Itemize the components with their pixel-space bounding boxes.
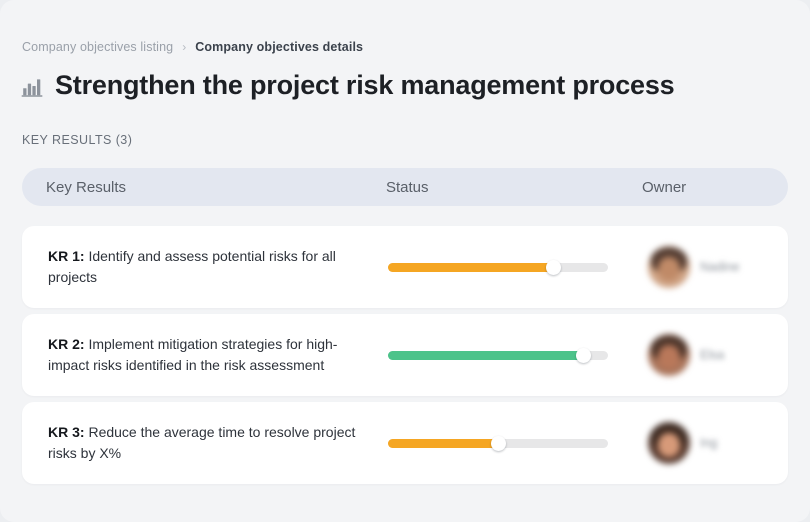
- page-title: Strengthen the project risk management p…: [55, 68, 674, 102]
- avatar[interactable]: [648, 422, 690, 464]
- page-title-row: Strengthen the project risk management p…: [20, 66, 674, 104]
- key-result-text: KR 2: Implement mitigation strategies fo…: [22, 334, 388, 376]
- key-result-label: KR 1:: [48, 248, 85, 264]
- owner-name: Ing: [700, 436, 717, 450]
- status-cell: [388, 351, 644, 360]
- avatar-face: [658, 433, 680, 457]
- owner-cell[interactable]: Nadine: [644, 246, 788, 288]
- table-row[interactable]: KR 2: Implement mitigation strategies fo…: [22, 314, 788, 396]
- column-header-key-results: Key Results: [46, 179, 386, 196]
- owner-name: Elsa: [700, 348, 724, 362]
- progress-slider[interactable]: [388, 439, 608, 448]
- key-results-list: KR 1: Identify and assess potential risk…: [22, 226, 788, 490]
- key-result-text: KR 1: Identify and assess potential risk…: [22, 246, 388, 288]
- chevron-right-icon: ›: [182, 41, 186, 53]
- status-cell: [388, 439, 644, 448]
- progress-fill: [388, 439, 498, 448]
- bar-chart-buildings-icon: [20, 75, 44, 99]
- breadcrumb-parent-link[interactable]: Company objectives listing: [22, 38, 173, 56]
- breadcrumb-current: Company objectives details: [195, 38, 363, 56]
- breadcrumb: Company objectives listing › Company obj…: [22, 38, 363, 56]
- column-header-status: Status: [386, 179, 642, 196]
- status-cell: [388, 263, 644, 272]
- key-result-text: KR 3: Reduce the average time to resolve…: [22, 422, 388, 464]
- owner-cell[interactable]: Elsa: [644, 334, 788, 376]
- avatar-face: [658, 345, 680, 369]
- progress-slider-handle[interactable]: [491, 436, 506, 451]
- key-result-description: Identify and assess potential risks for …: [48, 248, 336, 285]
- avatar[interactable]: [648, 334, 690, 376]
- key-result-description: Implement mitigation strategies for high…: [48, 336, 337, 373]
- avatar[interactable]: [648, 246, 690, 288]
- table-row[interactable]: KR 1: Identify and assess potential risk…: [22, 226, 788, 308]
- progress-fill: [388, 263, 553, 272]
- avatar-face: [658, 257, 680, 281]
- table-row[interactable]: KR 3: Reduce the average time to resolve…: [22, 402, 788, 484]
- progress-slider[interactable]: [388, 351, 608, 360]
- key-result-label: KR 2:: [48, 336, 85, 352]
- table-header: Key Results Status Owner: [22, 168, 788, 206]
- page-surface: Company objectives listing › Company obj…: [0, 0, 810, 522]
- progress-slider-handle[interactable]: [576, 348, 591, 363]
- key-results-section-label: KEY RESULTS (3): [22, 132, 132, 149]
- owner-name: Nadine: [700, 260, 740, 274]
- column-header-owner: Owner: [642, 179, 686, 196]
- progress-fill: [388, 351, 584, 360]
- key-result-label: KR 3:: [48, 424, 85, 440]
- progress-slider-handle[interactable]: [546, 260, 561, 275]
- progress-slider[interactable]: [388, 263, 608, 272]
- key-result-description: Reduce the average time to resolve proje…: [48, 424, 355, 461]
- owner-cell[interactable]: Ing: [644, 422, 788, 464]
